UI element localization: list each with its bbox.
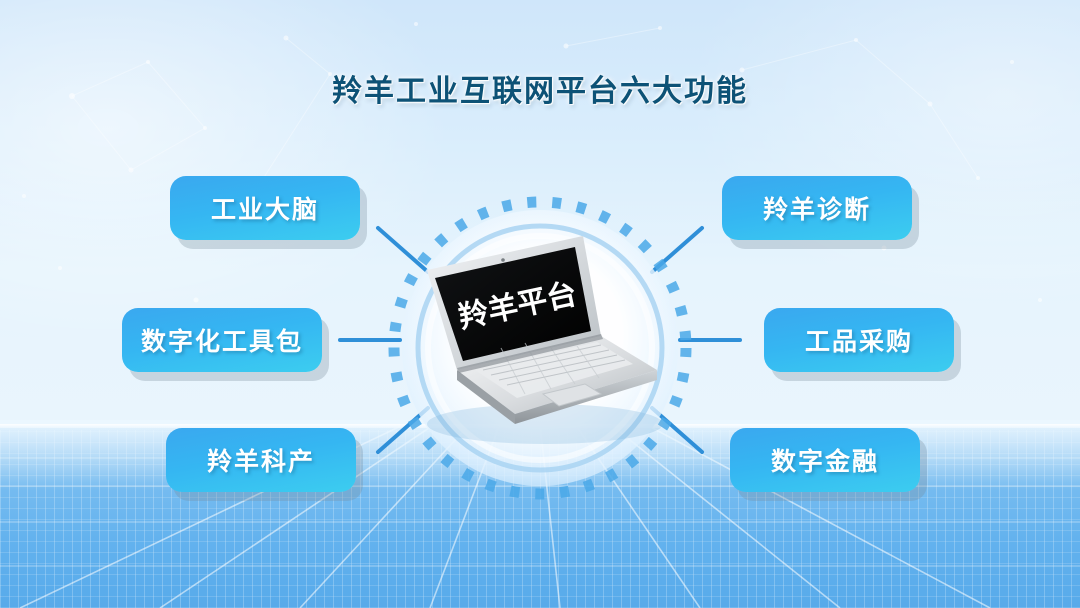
laptop-illustration: 羚羊平台 <box>405 218 675 458</box>
feature-pill-lingyang-tech[interactable]: 羚羊科产 <box>166 428 356 492</box>
feature-pill-digital-finance[interactable]: 数字金融 <box>730 428 920 492</box>
feature-label-lingyang-tech: 羚羊科产 <box>207 442 315 478</box>
feature-label-digital-toolkit: 数字化工具包 <box>141 322 303 358</box>
page-title: 羚羊工业互联网平台六大功能 <box>0 66 1080 110</box>
feature-pill-industrial-brain[interactable]: 工业大脑 <box>170 176 360 240</box>
feature-label-digital-finance: 数字金融 <box>771 442 879 478</box>
feature-label-lingyang-diagnosis: 羚羊诊断 <box>763 190 871 226</box>
feature-label-goods-procurement: 工品采购 <box>805 322 913 358</box>
feature-pill-digital-toolkit[interactable]: 数字化工具包 <box>122 308 322 372</box>
center-hub: 羚羊平台 <box>350 170 730 500</box>
feature-pill-lingyang-diagnosis[interactable]: 羚羊诊断 <box>722 176 912 240</box>
feature-pill-goods-procurement[interactable]: 工品采购 <box>764 308 954 372</box>
infographic-canvas: 羚羊工业互联网平台六大功能 <box>0 0 1080 608</box>
feature-label-industrial-brain: 工业大脑 <box>211 190 319 226</box>
